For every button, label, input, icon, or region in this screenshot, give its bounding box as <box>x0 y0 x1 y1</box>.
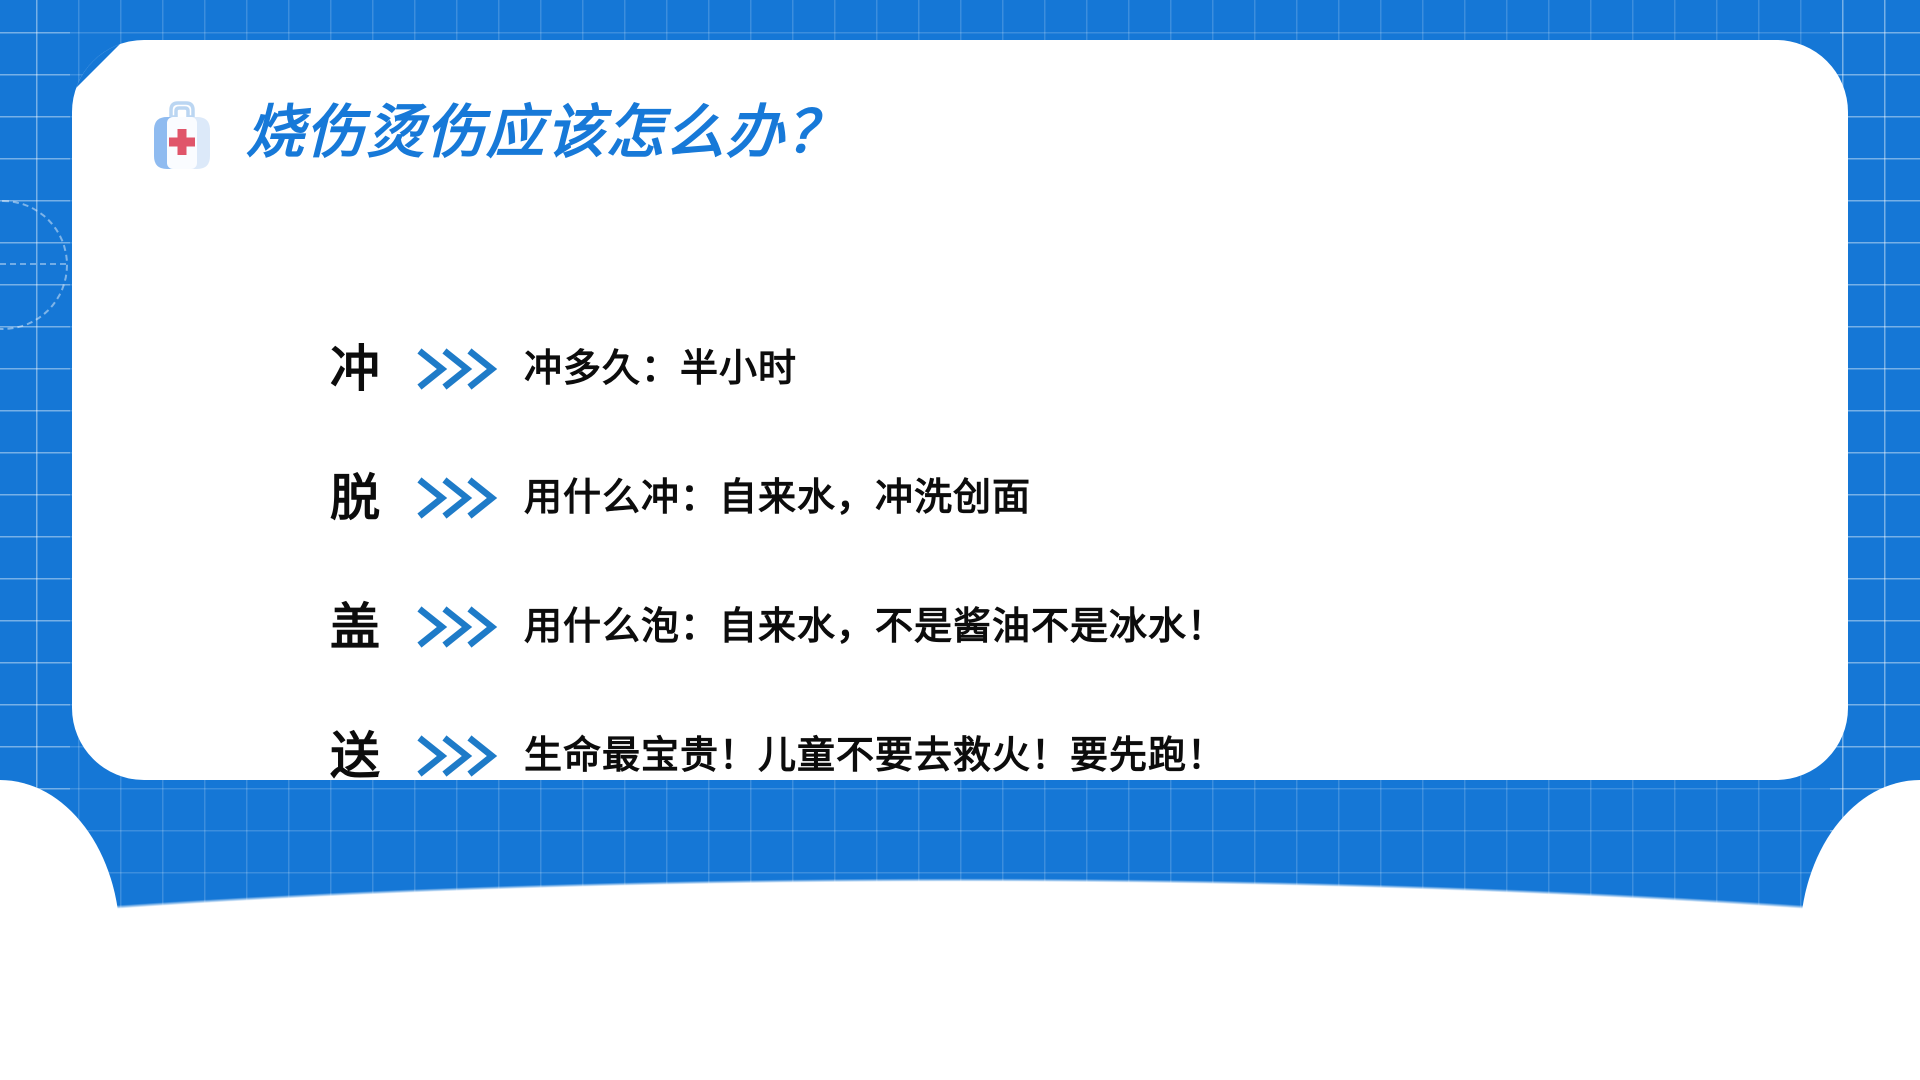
medical-bag-icon <box>140 92 224 174</box>
tip-keyword: 盖 <box>330 602 416 652</box>
triple-chevron-right-icon <box>416 733 510 779</box>
tip-description: 用什么冲：自来水，冲洗创面 <box>524 479 1031 517</box>
tip-row: 冲 冲多久：半小时 <box>330 338 1730 400</box>
tip-description: 冲多久：半小时 <box>524 350 797 388</box>
bottom-white-sweep <box>0 760 1920 1080</box>
tip-description: 用什么泡：自来水，不是酱油不是冰水！ <box>524 608 1226 646</box>
tip-row: 盖 用什么泡：自来水，不是酱油不是冰水！ <box>330 596 1730 658</box>
page-title: 烧伤烫伤应该怎么办？ <box>246 104 846 162</box>
title-row: 烧伤烫伤应该怎么办？ <box>140 92 846 174</box>
triple-chevron-right-icon <box>416 604 510 650</box>
triple-chevron-right-icon <box>416 346 510 392</box>
tip-keyword: 送 <box>330 731 416 781</box>
tip-row: 送 生命最宝贵！儿童不要去救火！要先跑！ <box>330 725 1730 787</box>
tip-row: 脱 用什么冲：自来水，冲洗创面 <box>330 467 1730 529</box>
triple-chevron-right-icon <box>416 475 510 521</box>
tips-list: 冲 冲多久：半小时 脱 用什么冲：自来水，冲洗创面 <box>330 338 1730 787</box>
dashed-line-decoration <box>0 263 66 265</box>
tip-keyword: 冲 <box>330 344 416 394</box>
tip-description: 生命最宝贵！儿童不要去救火！要先跑！ <box>524 737 1226 775</box>
tip-keyword: 脱 <box>330 473 416 523</box>
